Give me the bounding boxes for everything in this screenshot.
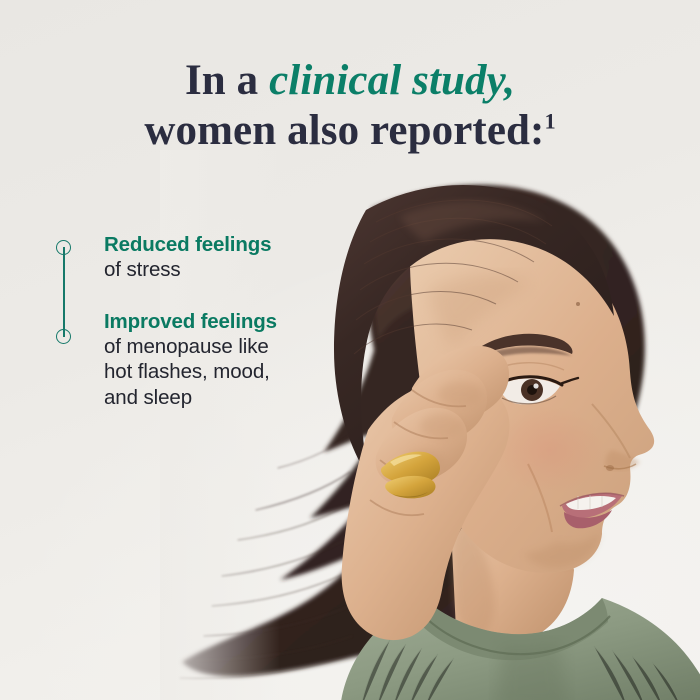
rail-line (63, 247, 65, 337)
eye (490, 363, 578, 405)
headline-line-1: In a clinical study, (0, 56, 700, 106)
eyebrow (477, 334, 572, 356)
benefit-lead: Reduced feelings (104, 232, 336, 257)
benefit-lead: Improved feelings (104, 309, 336, 334)
headline-line-2-text: women also reported: (144, 107, 544, 154)
page-title: In a clinical study, women also reported… (0, 56, 700, 156)
rail-circle-top-icon (56, 240, 71, 255)
headline-emphasis: clinical study, (269, 57, 515, 104)
promo-card: In a clinical study, women also reported… (0, 0, 700, 700)
list-item: Reduced feelings of stress (104, 232, 336, 283)
mouth (528, 464, 624, 532)
hand (342, 346, 510, 640)
headline-line-2: women also reported:1 (0, 106, 700, 156)
hair-front (334, 185, 614, 480)
benefit-body-line: of menopause like (104, 334, 336, 360)
benefit-body-line: hot flashes, mood, (104, 359, 336, 385)
footnote-marker: 1 (544, 109, 555, 134)
benefit-body-line: and sleep (104, 385, 336, 411)
list-item: Improved feelings of menopause like hot … (104, 309, 336, 411)
connector-rail-icon (56, 240, 72, 344)
nose (592, 404, 640, 471)
benefit-list: Reduced feelings of stress Improved feel… (56, 232, 336, 410)
sweater (340, 598, 700, 700)
face (410, 236, 654, 573)
benefit-body-line: of stress (104, 257, 336, 283)
gold-ring (381, 452, 440, 499)
headline-prefix: In a (185, 57, 269, 104)
rail-circle-bottom-icon (56, 329, 71, 344)
neck (452, 488, 574, 645)
hair-wisps (180, 428, 360, 678)
